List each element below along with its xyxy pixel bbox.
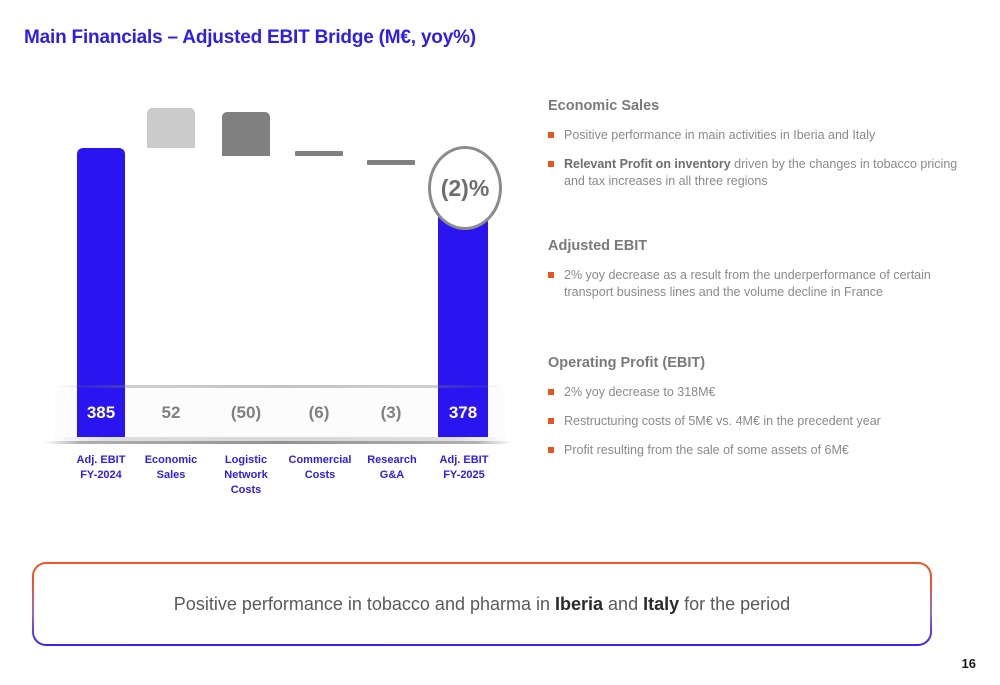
value-label-economic-sales: 52 <box>147 388 195 437</box>
category-label-economic-sales: EconomicSales <box>131 453 211 483</box>
note-text: 2% yoy decrease to 318M€ <box>564 385 715 399</box>
category-label-line: Logistic <box>206 453 286 468</box>
category-label-line: Adj. EBIT <box>60 453 142 468</box>
bar-research-ga <box>367 160 415 165</box>
note-bullet-item: Relevant Profit on inventory driven by t… <box>548 156 968 190</box>
category-label-line: Economic <box>131 453 211 468</box>
key-message-callout: Positive performance in tobacco and phar… <box>32 562 932 646</box>
note-heading: Operating Profit (EBIT) <box>548 355 968 371</box>
note-text: 2% yoy decrease as a result from the und… <box>564 268 931 299</box>
category-label-line: Costs <box>206 483 286 498</box>
value-label-adj-ebit-fy2024: 385 <box>77 388 125 437</box>
commentary-panel: Economic SalesPositive performance in ma… <box>548 98 968 481</box>
chart-value-row: 38552(50)(6)(3)378 <box>55 388 505 437</box>
category-label-logistic-network-costs: LogisticNetworkCosts <box>206 453 286 498</box>
square-bullet-icon <box>548 132 554 138</box>
category-label-line: G&A <box>352 468 432 483</box>
bar-economic-sales <box>147 108 195 148</box>
bar-logistic-network-costs <box>222 112 270 156</box>
note-bullet-item: Positive performance in main activities … <box>548 127 968 144</box>
bar-adj-ebit-fy2024 <box>77 148 125 388</box>
note-group: Economic SalesPositive performance in ma… <box>548 98 968 216</box>
callout-prefix: Positive performance in tobacco and phar… <box>174 594 555 614</box>
value-label-research-ga: (3) <box>367 388 415 437</box>
note-text: Restructuring costs of 5M€ vs. 4M€ in th… <box>564 414 881 428</box>
callout-bold-italy: Italy <box>643 594 679 614</box>
callout-bold-iberia: Iberia <box>555 594 603 614</box>
square-bullet-icon <box>548 418 554 424</box>
page-number: 16 <box>962 656 976 671</box>
note-heading: Adjusted EBIT <box>548 238 968 254</box>
value-label-commercial-costs: (6) <box>295 388 343 437</box>
category-label-adj-ebit-fy2024: Adj. EBITFY-2024 <box>60 453 142 483</box>
value-label-logistic-network-costs: (50) <box>222 388 270 437</box>
category-label-line: Sales <box>131 468 211 483</box>
note-heading: Economic Sales <box>548 98 968 114</box>
chart-plot-area <box>0 70 530 400</box>
square-bullet-icon <box>548 447 554 453</box>
square-bullet-icon <box>548 389 554 395</box>
chart-baseline-axis <box>43 441 513 444</box>
note-bullet-item: Restructuring costs of 5M€ vs. 4M€ in th… <box>548 413 968 430</box>
yoy-change-annotation: (2)% <box>428 146 502 230</box>
category-label-line: Research <box>352 453 432 468</box>
category-label-research-ga: ResearchG&A <box>352 453 432 483</box>
value-label-adj-ebit-fy2025: 378 <box>438 388 488 437</box>
note-text: Profit resulting from the sale of some a… <box>564 443 849 457</box>
note-bullet-item: 2% yoy decrease as a result from the und… <box>548 267 968 301</box>
bar-commercial-costs <box>295 151 343 156</box>
note-bullet-item: 2% yoy decrease to 318M€ <box>548 384 968 401</box>
category-label-adj-ebit-fy2025: Adj. EBITFY-2025 <box>423 453 505 483</box>
category-label-commercial-costs: CommercialCosts <box>279 453 361 483</box>
note-group: Adjusted EBIT2% yoy decrease as a result… <box>548 238 968 333</box>
note-spacer <box>548 313 968 333</box>
note-bullet-item: Profit resulting from the sale of some a… <box>548 442 968 459</box>
note-bold-text: Relevant Profit on inventory <box>564 157 731 171</box>
note-spacer <box>548 202 968 216</box>
category-label-line: Commercial <box>279 453 361 468</box>
ebit-bridge-chart: 38552(50)(6)(3)378 (2)% Adj. EBITFY-2024… <box>0 70 530 520</box>
note-group: Operating Profit (EBIT)2% yoy decrease t… <box>548 355 968 459</box>
square-bullet-icon <box>548 272 554 278</box>
category-label-line: FY-2025 <box>423 468 505 483</box>
callout-suffix: for the period <box>679 594 790 614</box>
category-label-line: Adj. EBIT <box>423 453 505 468</box>
note-text: Positive performance in main activities … <box>564 128 875 142</box>
category-label-line: Network <box>206 468 286 483</box>
square-bullet-icon <box>548 161 554 167</box>
callout-middle: and <box>603 594 643 614</box>
category-label-line: Costs <box>279 468 361 483</box>
key-message-text: Positive performance in tobacco and phar… <box>174 594 790 615</box>
category-label-line: FY-2024 <box>60 468 142 483</box>
page-title: Main Financials – Adjusted EBIT Bridge (… <box>24 27 476 49</box>
